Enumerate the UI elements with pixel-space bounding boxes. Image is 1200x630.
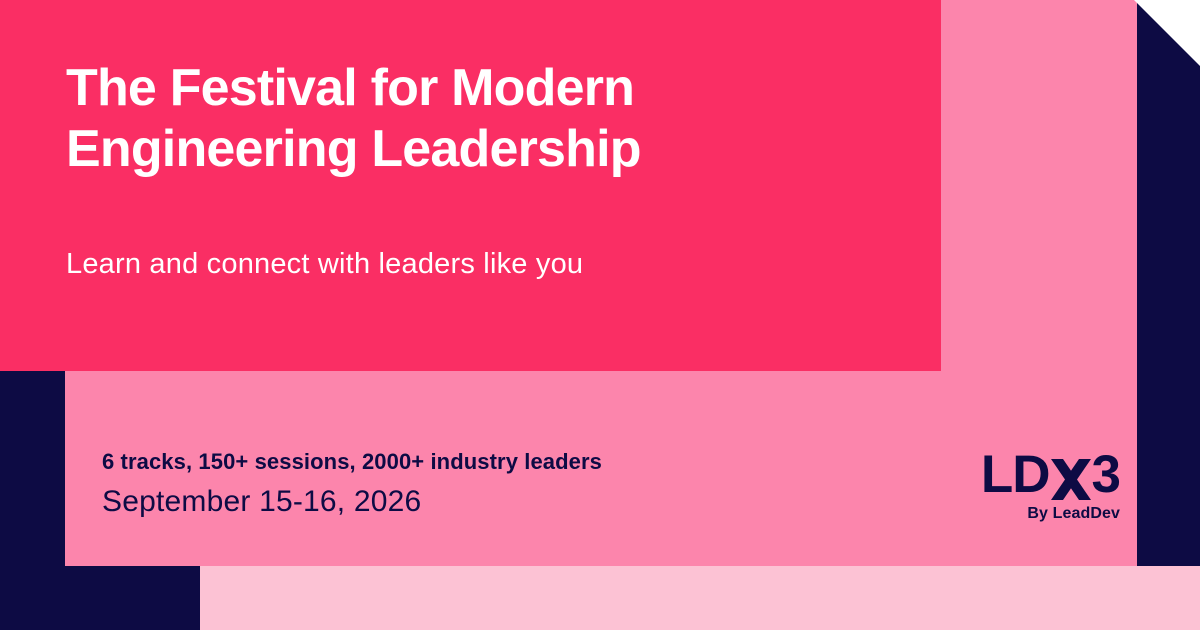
logo-prefix-letters: LD xyxy=(981,452,1050,499)
hero-copy-group: The Festival for Modern Engineering Lead… xyxy=(66,58,866,282)
page-title: The Festival for Modern Engineering Lead… xyxy=(66,58,866,181)
logo-suffix-number: 3 xyxy=(1092,452,1120,499)
logo-wordmark: LD 3 xyxy=(981,452,1120,499)
logo-x-icon xyxy=(1051,459,1091,500)
headline-line-1: The Festival for Modern xyxy=(66,58,866,119)
light-pink-bottom-band-shape xyxy=(200,566,1200,630)
event-date-text: September 15-16, 2026 xyxy=(102,476,862,520)
event-stats-text: 6 tracks, 150+ sessions, 2000+ industry … xyxy=(102,448,862,476)
headline-line-2: Engineering Leadership xyxy=(66,119,866,180)
promo-banner: The Festival for Modern Engineering Lead… xyxy=(0,0,1200,630)
hero-subtitle: Learn and connect with leaders like you xyxy=(66,181,866,282)
event-details-group: 6 tracks, 150+ sessions, 2000+ industry … xyxy=(102,448,862,520)
ldx3-logo: LD 3 By LeadDev xyxy=(981,452,1120,522)
